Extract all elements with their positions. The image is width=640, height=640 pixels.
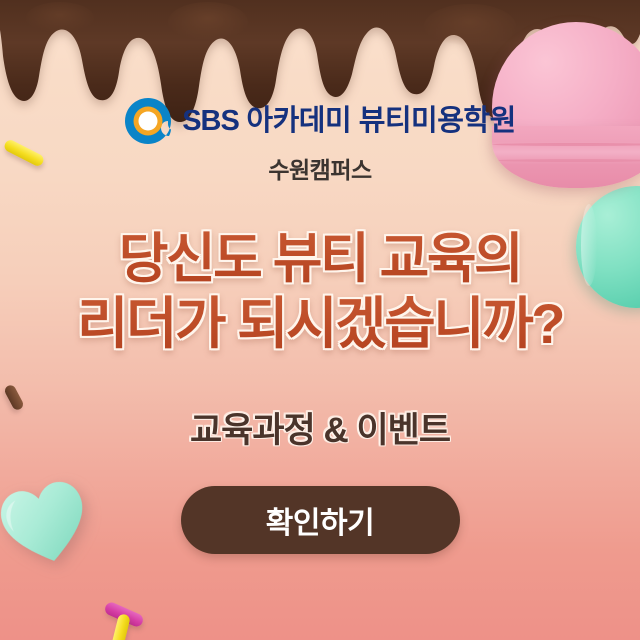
confirm-cta-button[interactable]: 확인하기 [181,486,460,554]
subheading: 교육과정 & 이벤트 [190,402,450,453]
headline-line-1: 당신도 뷰티 교육의 [77,229,563,289]
brand-name: SBS 아카데미 뷰티미용학원 [182,107,516,136]
headline-line-2: 리더가 되시겠습니까? [77,293,563,356]
campus-label: 수원캠퍼스 [268,159,371,182]
brand-sbs-label: SBS [182,105,239,137]
banner-content: SBS 아카데미 뷰티미용학원 수원캠퍼스 당신도 뷰티 교육의 리더가 되시겠… [0,0,640,640]
brand-academy-label: 아카데미 뷰티미용학원 [246,105,515,137]
sbs-circle-logo-icon [124,97,172,145]
brand-lockup: SBS 아카데미 뷰티미용학원 [124,97,516,145]
promo-banner: SBS 아카데미 뷰티미용학원 수원캠퍼스 당신도 뷰티 교육의 리더가 되시겠… [0,0,640,640]
headline: 당신도 뷰티 교육의 리더가 되시겠습니까? [77,229,563,356]
